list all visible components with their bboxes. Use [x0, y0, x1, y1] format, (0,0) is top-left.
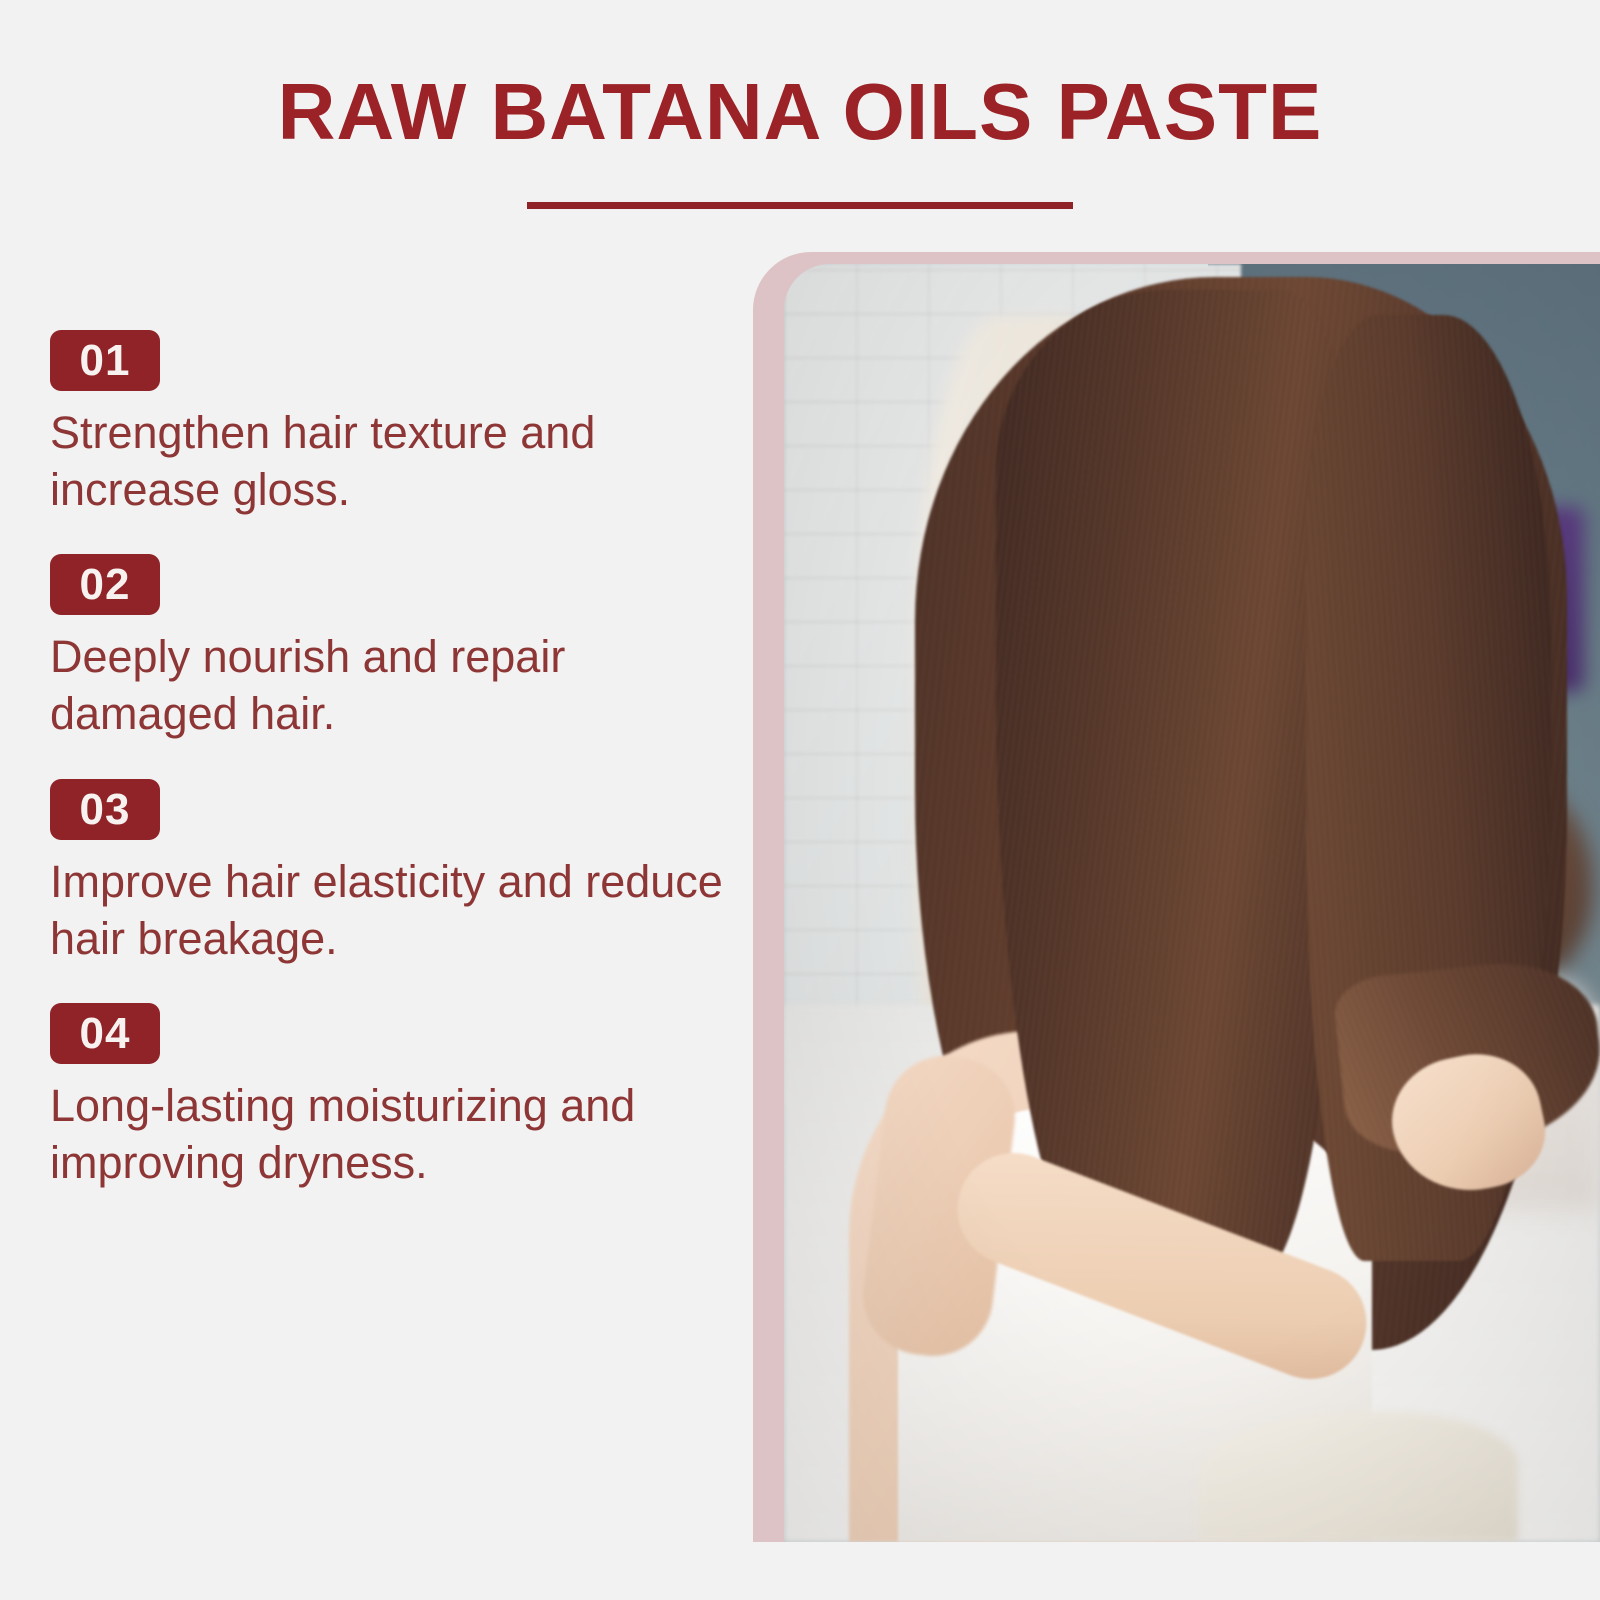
photo-vignette	[784, 264, 1600, 1542]
title-underline-divider	[527, 202, 1073, 209]
product-photo-panel	[753, 252, 1600, 1542]
page-title: RAW BATANA OILS PASTE	[0, 72, 1600, 152]
feature-description: Deeply nourish and repair damaged hair.	[50, 628, 730, 742]
feature-number-badge: 04	[50, 1003, 160, 1064]
feature-item: 03 Improve hair elasticity and reduce ha…	[50, 779, 740, 967]
feature-description: Long-lasting moisturizing and improving …	[50, 1077, 730, 1191]
feature-item: 02 Deeply nourish and repair damaged hai…	[50, 554, 740, 742]
feature-item: 04 Long-lasting moisturizing and improvi…	[50, 1003, 740, 1191]
feature-list: 01 Strengthen hair texture and increase …	[50, 330, 740, 1191]
feature-number-badge: 03	[50, 779, 160, 840]
feature-description: Strengthen hair texture and increase glo…	[50, 404, 730, 518]
feature-item: 01 Strengthen hair texture and increase …	[50, 330, 740, 518]
feature-number-badge: 01	[50, 330, 160, 391]
feature-description: Improve hair elasticity and reduce hair …	[50, 853, 730, 967]
title-block: RAW BATANA OILS PASTE	[0, 72, 1600, 209]
feature-number-badge: 02	[50, 554, 160, 615]
model-photo	[784, 264, 1600, 1542]
